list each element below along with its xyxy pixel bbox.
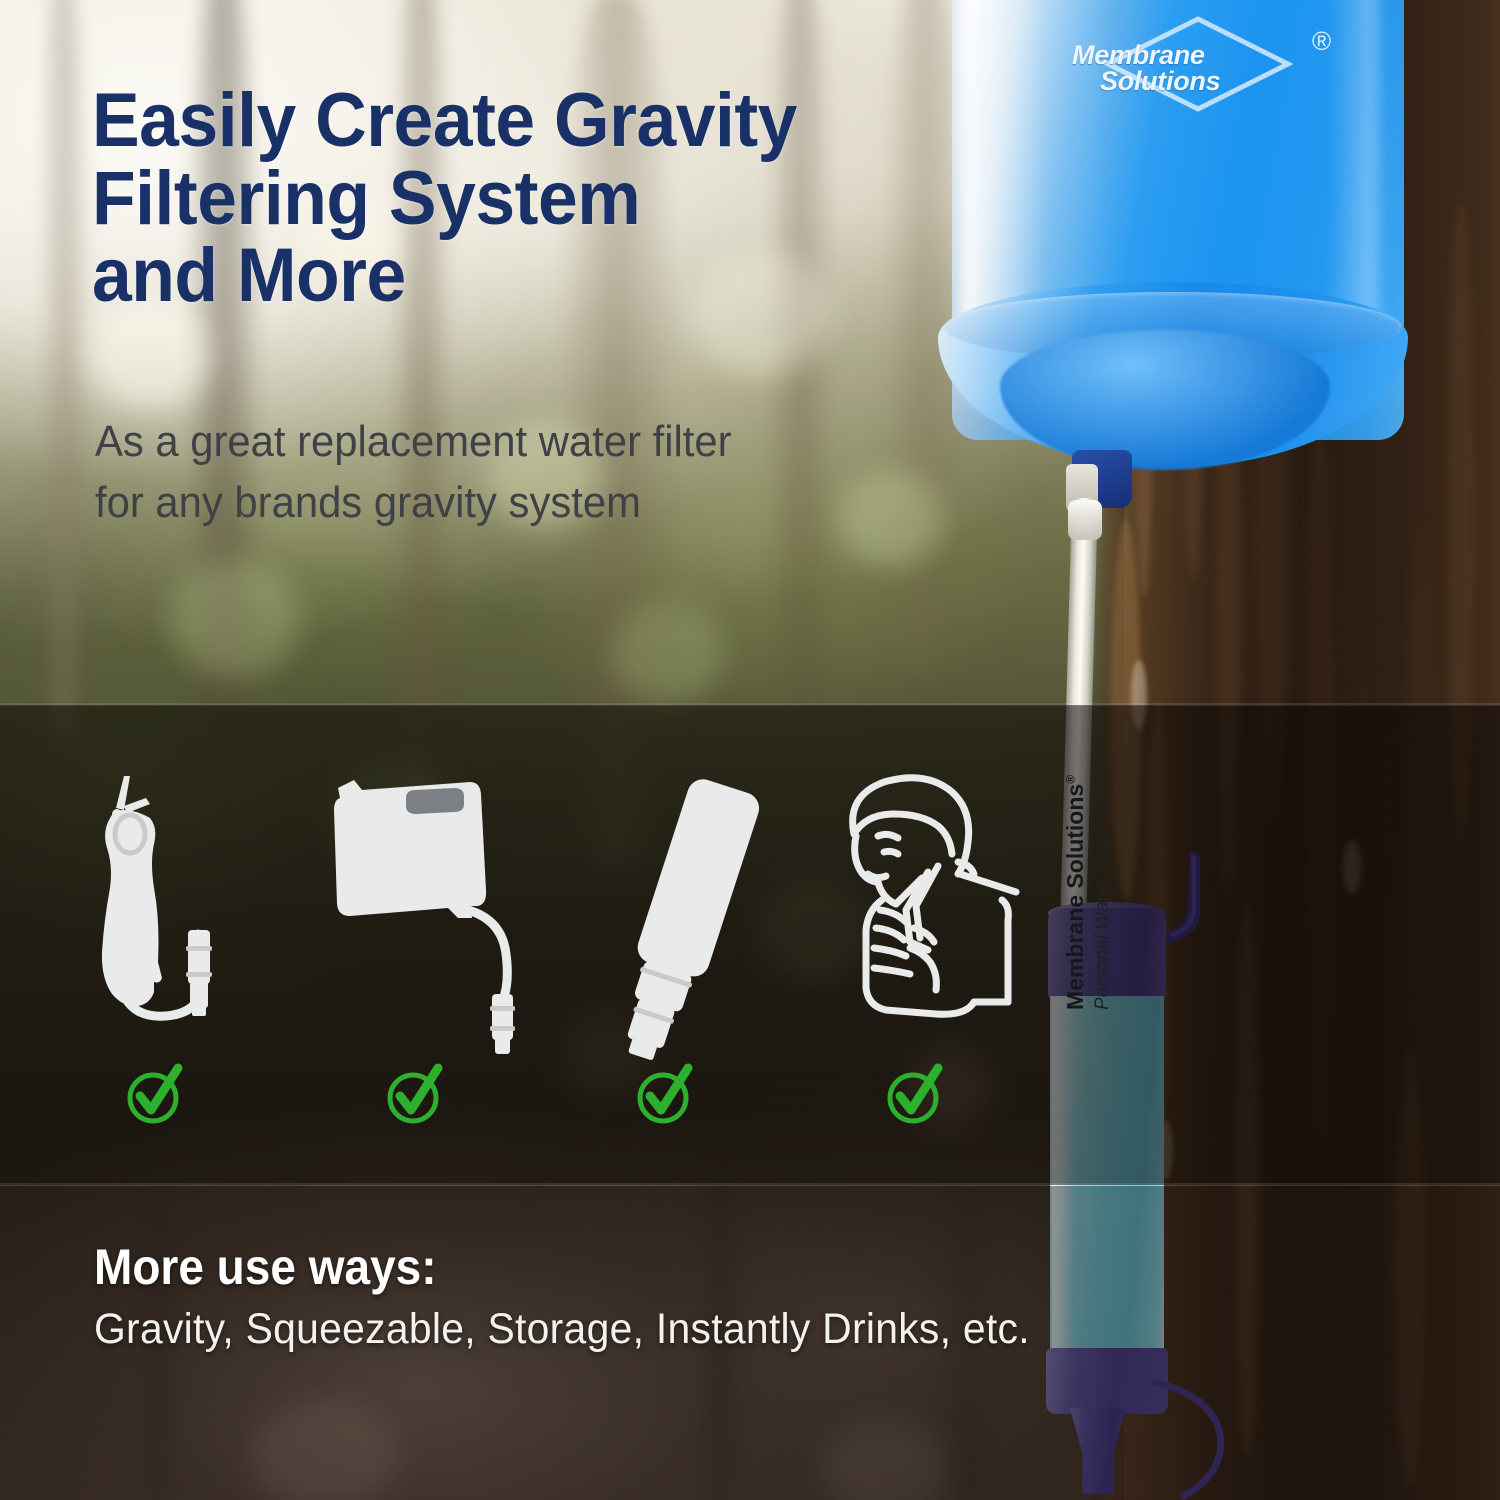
usecase-icon-squeeze-pouch [575, 770, 785, 1060]
logo-line-2: Solutions [1072, 68, 1322, 94]
filter-product-label: Membrane Solutions® Personal Water Filte… [1062, 680, 1122, 1010]
check-icon-3 [632, 1062, 698, 1128]
filter-hook [1160, 846, 1204, 956]
check-icon-4 [882, 1062, 948, 1128]
usecase-icon-storage-jug [320, 770, 570, 1060]
filter-brand-text: Membrane Solutions [1062, 784, 1088, 1010]
membrane-solutions-logo: Membrane Solutions ® [1072, 12, 1342, 120]
logo-wordmark: Membrane Solutions [1072, 42, 1322, 94]
check-icon-1 [122, 1062, 188, 1128]
footer-title: More use ways: [94, 1238, 437, 1296]
registered-trademark-icon: ® [1312, 28, 1331, 54]
usecase-icon-person-drinking [810, 770, 1040, 1060]
subheadline: As a great replacement water filter for … [95, 412, 950, 533]
filter-subtitle-text: Personal Water Filter [1092, 680, 1114, 1010]
hose-collar [1068, 500, 1102, 540]
product-marketing-image: Membrane Solutions ® Membrane Solutions®… [0, 0, 1500, 1500]
usecase-icon-gravity-bag [80, 770, 310, 1060]
filter-highlight [1052, 996, 1074, 1356]
person-drinking-through-filter-icon [810, 770, 1040, 1060]
filter-registered-icon: ® [1063, 775, 1077, 784]
filter-tether-cord [1150, 1372, 1246, 1500]
gravity-bag-with-hose-icon [80, 770, 310, 1060]
check-icon-2 [382, 1062, 448, 1128]
squeeze-pouch-with-filter-icon [575, 770, 785, 1060]
headline: Easily Create Gravity Filtering System a… [92, 82, 994, 315]
footer-use-list: Gravity, Squeezable, Storage, Instantly … [94, 1305, 1030, 1354]
water-storage-jug-with-hose-icon [320, 770, 570, 1060]
